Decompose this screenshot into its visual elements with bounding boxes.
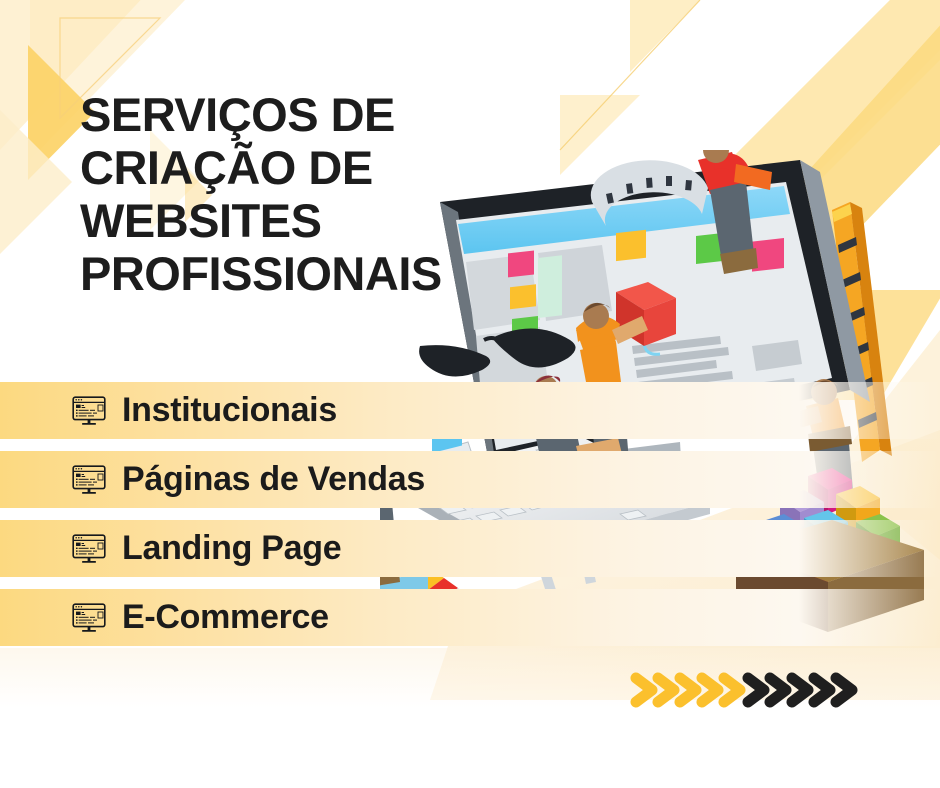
- chevron-yellow-group: [636, 678, 740, 702]
- chevron-dark-1: [748, 678, 764, 702]
- headline-line-4: PROFISSIONAIS: [80, 247, 640, 300]
- headline-line-3: WEBSITES: [80, 194, 640, 247]
- headline-line-1: SERVIÇOS DE: [80, 88, 640, 141]
- poster-canvas: SERVIÇOS DE CRIAÇÃO DE WEBSITES PROFISSI…: [0, 0, 940, 788]
- chevron-dark-group: [748, 678, 852, 702]
- monitor-website-icon: [72, 465, 106, 495]
- service-label: Institucionais: [122, 391, 337, 430]
- service-item-institucionais[interactable]: Institucionais: [0, 382, 940, 439]
- chevron-yellow-2: [658, 678, 674, 702]
- chevron-arrow-row: [628, 668, 868, 712]
- service-item-paginas-de-vendas[interactable]: Páginas de Vendas: [0, 451, 940, 508]
- monitor-website-icon: [72, 534, 106, 564]
- service-label: Páginas de Vendas: [122, 460, 425, 499]
- page-title: SERVIÇOS DE CRIAÇÃO DE WEBSITES PROFISSI…: [80, 88, 640, 300]
- chevron-yellow-1: [636, 678, 652, 702]
- headline-line-2: CRIAÇÃO DE: [80, 141, 640, 194]
- service-item-e-commerce[interactable]: E-Commerce: [0, 589, 940, 646]
- chevron-dark-2: [770, 678, 786, 702]
- chevron-yellow-3: [680, 678, 696, 702]
- monitor-website-icon: [72, 603, 106, 633]
- service-label: E-Commerce: [122, 598, 329, 637]
- chevron-yellow-4: [702, 678, 718, 702]
- chevron-yellow-5: [724, 678, 740, 702]
- service-item-landing-page[interactable]: Landing Page: [0, 520, 940, 577]
- monitor-website-icon: [72, 396, 106, 426]
- chevron-dark-4: [814, 678, 830, 702]
- decor-arrow-tr-6: [630, 0, 700, 72]
- chevron-dark-3: [792, 678, 808, 702]
- chevron-dark-5: [836, 678, 852, 702]
- service-label: Landing Page: [122, 529, 341, 568]
- services-list: Institucionais Páginas de Vendas: [0, 382, 940, 658]
- decor-triangle-tl-low: [0, 110, 72, 254]
